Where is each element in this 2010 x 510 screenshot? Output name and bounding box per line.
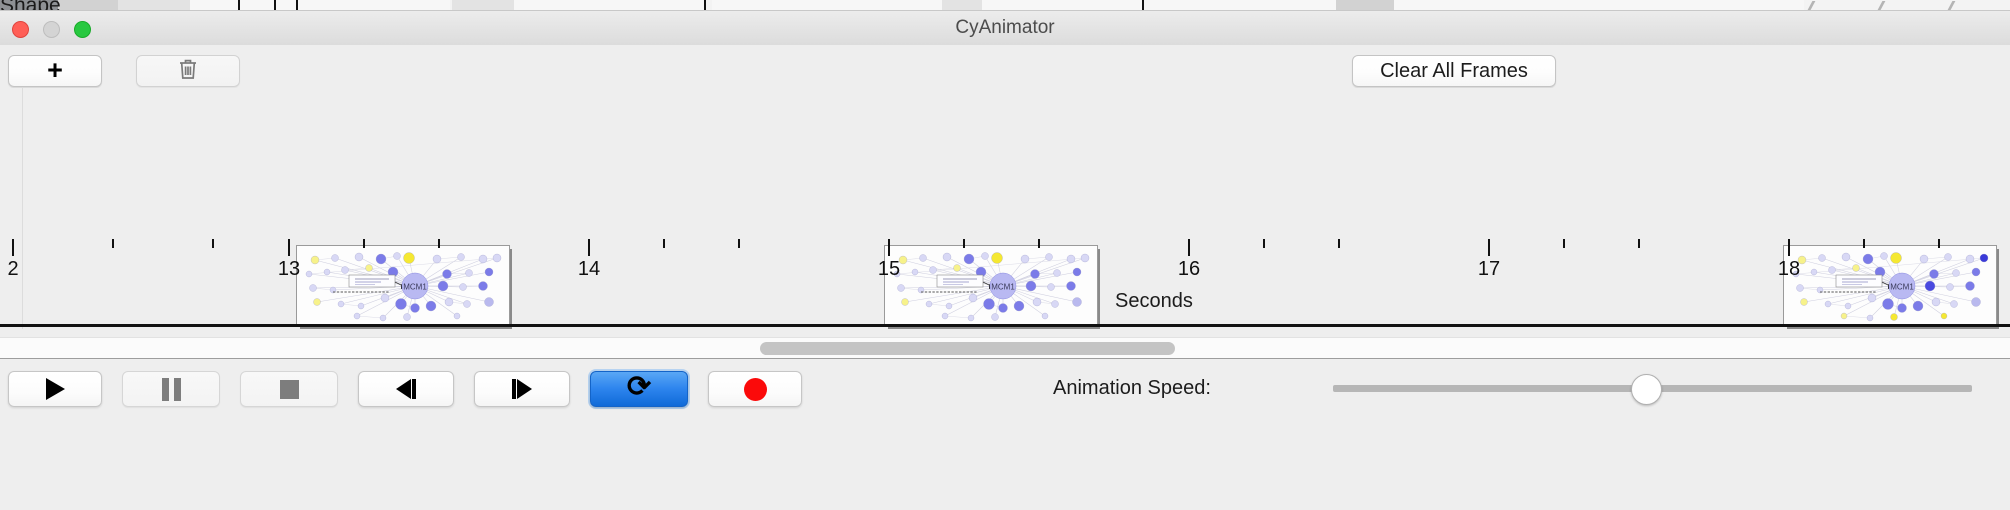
timeline-axis-line [0, 324, 2010, 327]
skip-to-start-button[interactable] [358, 371, 454, 407]
axis-tick [1638, 239, 1640, 248]
axis-tick [588, 239, 590, 256]
axis-tick [1263, 239, 1265, 248]
axis-tick-label: 14 [578, 258, 600, 281]
frame-thumbnail-image: MCM1 [296, 245, 510, 327]
skip-back-icon [395, 378, 417, 400]
play-icon [46, 378, 65, 400]
add-frame-button[interactable]: + [8, 55, 102, 87]
svg-text:MCM1: MCM1 [403, 282, 427, 291]
frame-thumbnail-3[interactable]: MCM1 [1783, 245, 1995, 325]
clear-all-frames-button[interactable]: Clear All Frames [1352, 55, 1556, 87]
frame-thumbnail-image: MCM1 [884, 245, 1098, 327]
axis-tick-label: 17 [1478, 258, 1500, 281]
clear-all-frames-label: Clear All Frames [1380, 60, 1528, 83]
svg-text:MCM1: MCM1 [1890, 282, 1914, 291]
plus-icon: + [47, 57, 63, 84]
axis-tick [738, 239, 740, 248]
loop-button[interactable]: ⟳ [590, 371, 688, 407]
frame-thumbnail-image: MCM1 [1783, 245, 1997, 327]
window-title: CyAnimator [0, 11, 2010, 45]
axis-tick-label: 16 [1178, 258, 1200, 281]
axis-tick [1938, 239, 1940, 248]
svg-text:MCM1: MCM1 [991, 282, 1015, 291]
axis-tick-label: 13 [278, 258, 300, 281]
axis-tick [1188, 239, 1190, 256]
record-icon [744, 378, 767, 401]
axis-tick [12, 239, 14, 256]
axis-tick-label: 18 [1778, 258, 1800, 281]
animation-speed-slider-knob[interactable] [1631, 374, 1662, 405]
axis-tick-label: 15 [878, 258, 900, 281]
trash-icon [177, 57, 199, 86]
axis-caption: Seconds [1115, 290, 1193, 313]
timeline-left-edge [22, 88, 23, 329]
pause-button[interactable] [122, 371, 220, 407]
cyanimator-window: Shape CyAnimator + [0, 0, 2010, 510]
play-button[interactable] [8, 371, 102, 407]
stop-icon [280, 380, 299, 399]
frame-toolbar: + Clear All Frames [0, 45, 2010, 89]
frame-thumbnail-2[interactable]: MCM1 [884, 245, 1096, 325]
timeline-panel[interactable]: MCM1 MCM1 MCM1 [0, 88, 2010, 329]
axis-tick [663, 239, 665, 248]
skip-to-end-button[interactable] [474, 371, 570, 407]
frame-thumbnail-1[interactable]: MCM1 [296, 245, 508, 325]
axis-tick [112, 239, 114, 248]
pause-icon [162, 378, 181, 401]
axis-tick [963, 239, 965, 248]
axis-tick [438, 239, 440, 248]
axis-tick [1563, 239, 1565, 248]
animation-speed-label: Animation Speed: [1053, 377, 1211, 400]
playback-toolbar: ⟳ Animation Speed: [0, 359, 2010, 510]
axis-tick [1488, 239, 1490, 256]
delete-frame-button[interactable] [136, 55, 240, 87]
timeline-scroll-area [0, 329, 2010, 359]
axis-tick [1788, 239, 1790, 256]
loop-icon: ⟳ [627, 373, 651, 402]
axis-tick [288, 239, 290, 256]
axis-tick [1338, 239, 1340, 248]
axis-tick [888, 239, 890, 256]
axis-tick [1038, 239, 1040, 248]
axis-tick [212, 239, 214, 248]
skip-forward-icon [511, 378, 533, 400]
timeline-scrollbar-track[interactable] [0, 337, 2010, 359]
axis-tick [1863, 239, 1865, 248]
axis-tick [363, 239, 365, 248]
record-button[interactable] [708, 371, 802, 407]
timeline-scrollbar-thumb[interactable] [760, 342, 1175, 355]
axis-tick-label: 2 [7, 258, 18, 281]
stop-button[interactable] [240, 371, 338, 407]
title-bar: CyAnimator [0, 11, 2010, 46]
